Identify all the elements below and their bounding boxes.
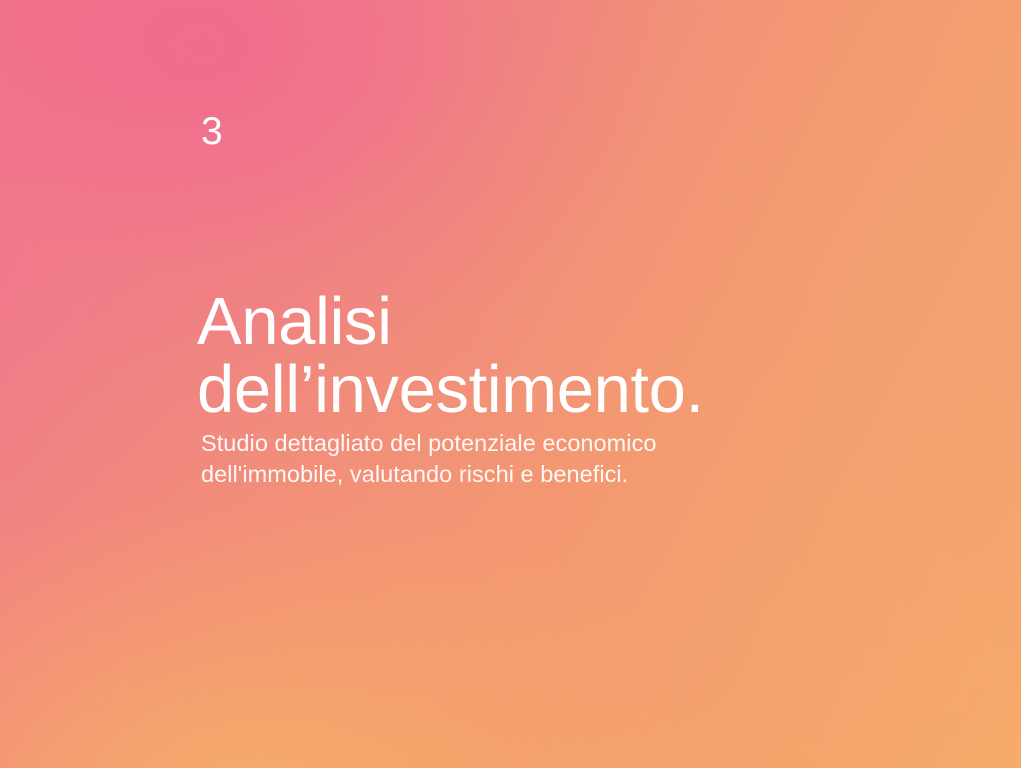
page-title-line-2: dell’investimento. <box>197 356 704 423</box>
page-title: Analisi dell’investimento. <box>197 288 704 423</box>
subtitle-line-2: dell'immobile, valutando rischi e benefi… <box>201 459 657 490</box>
section-number: 3 <box>201 112 223 151</box>
presentation-slide: 3 Analisi dell’investimento. Studio dett… <box>0 0 1021 768</box>
subtitle: Studio dettagliato del potenziale econom… <box>201 428 657 490</box>
subtitle-line-1: Studio dettagliato del potenziale econom… <box>201 428 657 459</box>
page-title-line-1: Analisi <box>197 288 704 355</box>
slide-content: 3 Analisi dell’investimento. Studio dett… <box>201 0 961 768</box>
